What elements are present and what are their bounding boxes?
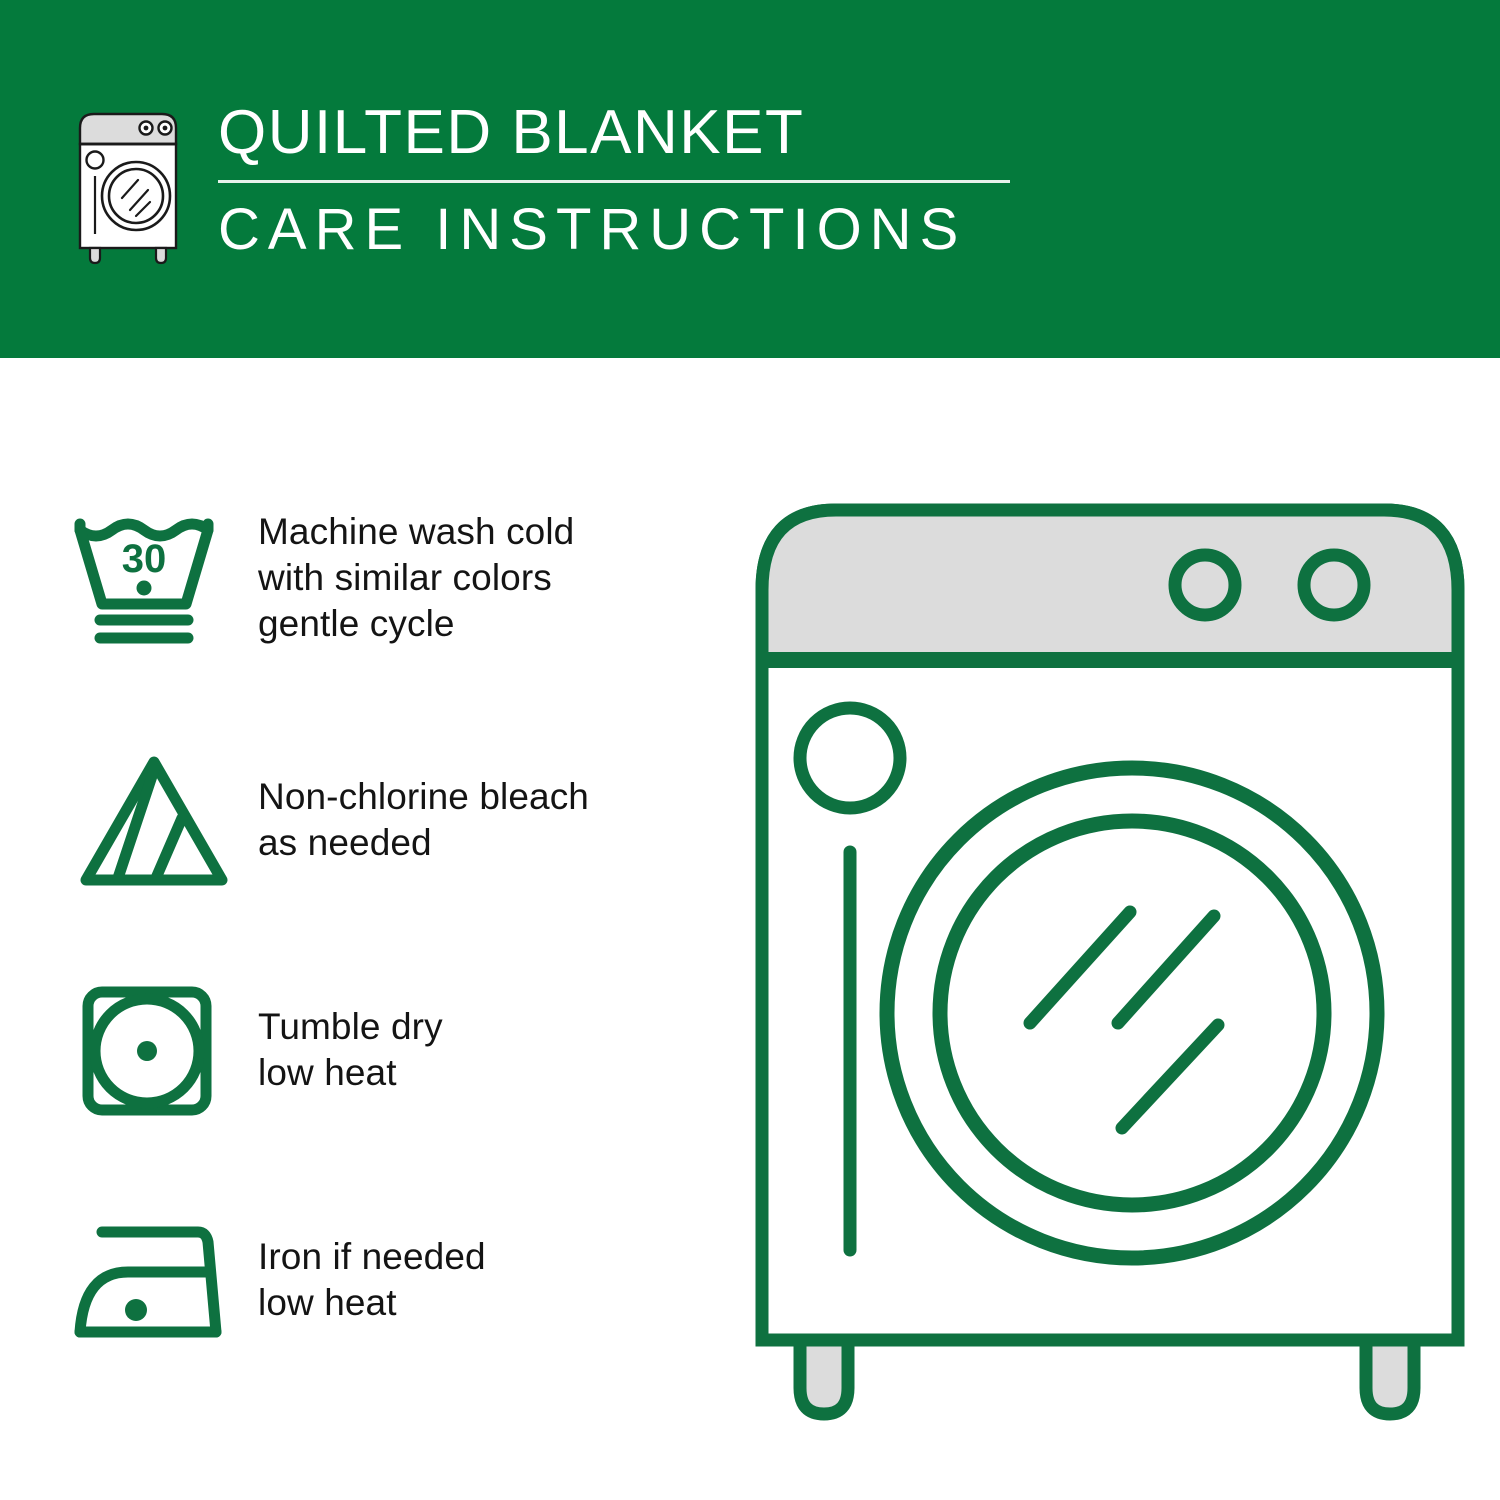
care-label-line: low heat <box>258 1050 443 1096</box>
washing-machine-icon <box>66 106 194 266</box>
care-label-line: Iron if needed <box>258 1234 486 1280</box>
care-instructions-list: 30 Machine wash cold with similar colors… <box>0 358 740 1500</box>
care-label-line: Machine wash cold <box>258 509 574 555</box>
knob-right[interactable] <box>1304 555 1364 615</box>
care-label-line: gentle cycle <box>258 601 574 647</box>
care-label-line: as needed <box>258 820 589 866</box>
care-item-bleach: Non-chlorine bleach as needed <box>70 750 710 890</box>
leg-left <box>800 1340 848 1414</box>
detergent-dial[interactable] <box>800 708 900 808</box>
care-label-line: Non-chlorine bleach <box>258 774 589 820</box>
leg-right <box>1366 1340 1414 1414</box>
page-subtitle: CARE INSTRUCTIONS <box>218 195 1018 265</box>
care-item-label: Tumble dry low heat <box>238 1004 443 1096</box>
front-load-washing-machine-illustration <box>740 480 1480 1430</box>
care-label-line: with similar colors <box>258 555 574 601</box>
care-label-line: Tumble dry <box>258 1004 443 1050</box>
header-title-group: QUILTED BLANKET CARE INSTRUCTIONS <box>218 96 1018 265</box>
care-item-label: Non-chlorine bleach as needed <box>238 774 589 866</box>
header-banner: QUILTED BLANKET CARE INSTRUCTIONS <box>0 0 1500 358</box>
wash-basin-30-gentle-icon: 30 <box>70 508 238 648</box>
care-label-line: low heat <box>258 1280 486 1326</box>
wash-temperature-value: 30 <box>122 537 167 581</box>
care-item-label: Iron if needed low heat <box>238 1234 486 1326</box>
iron-low-heat-icon <box>70 1210 238 1350</box>
care-item-machine-wash: 30 Machine wash cold with similar colors… <box>70 508 710 648</box>
care-item-label: Machine wash cold with similar colors ge… <box>238 509 574 647</box>
care-item-iron: Iron if needed low heat <box>70 1210 710 1350</box>
triangle-non-chlorine-bleach-icon <box>70 750 238 890</box>
knob-left[interactable] <box>1175 555 1235 615</box>
page-title: QUILTED BLANKET <box>218 96 1018 170</box>
tumble-dry-low-heat-icon <box>70 980 238 1120</box>
title-divider <box>218 180 1010 183</box>
care-item-tumble-dry: Tumble dry low heat <box>70 980 710 1120</box>
